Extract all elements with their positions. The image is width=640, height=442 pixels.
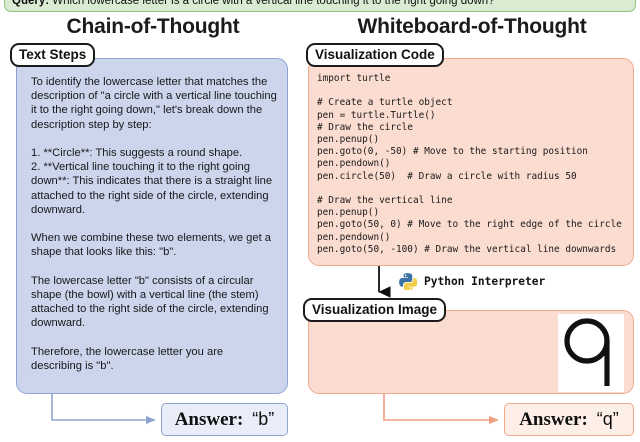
column-title-chain-of-thought: Chain-of-Thought bbox=[8, 15, 298, 39]
answer-value-left: “b” bbox=[252, 409, 274, 430]
pill-label-visualization-image: Visualization Image bbox=[303, 298, 446, 322]
python-logo-icon bbox=[399, 272, 417, 290]
answer-box-chain-of-thought: Answer: “b” bbox=[161, 403, 288, 436]
answer-value-right: “q” bbox=[597, 409, 619, 430]
query-bar: Query: Which lowercase letter is a circl… bbox=[4, 0, 636, 12]
panel-visualization-code: import turtle # Create a turtle object p… bbox=[308, 58, 634, 266]
rendered-letter-canvas bbox=[558, 314, 624, 392]
query-text: Which lowercase letter is a circle with … bbox=[49, 0, 495, 7]
turtle-drawing-letter-q-icon bbox=[558, 314, 624, 392]
panel-text-steps: To identify the lowercase letter that ma… bbox=[16, 58, 288, 394]
visualization-code-body: import turtle # Create a turtle object p… bbox=[317, 73, 627, 256]
panel-visualization-image bbox=[308, 310, 634, 394]
column-title-whiteboard-of-thought: Whiteboard-of-Thought bbox=[312, 15, 632, 39]
figure-root: Query: Which lowercase letter is a circl… bbox=[0, 0, 640, 442]
answer-label-left: Answer: bbox=[175, 409, 244, 431]
python-interpreter-row: Python Interpreter bbox=[399, 270, 545, 292]
query-label: Query: bbox=[12, 0, 49, 7]
pill-label-text-steps: Text Steps bbox=[10, 43, 95, 67]
answer-box-whiteboard-of-thought: Answer: “q” bbox=[504, 403, 634, 436]
answer-label-right: Answer: bbox=[519, 409, 588, 431]
pill-label-visualization-code: Visualization Code bbox=[306, 43, 444, 67]
text-steps-body: To identify the lowercase letter that ma… bbox=[31, 75, 277, 373]
python-interpreter-label: Python Interpreter bbox=[424, 275, 545, 288]
